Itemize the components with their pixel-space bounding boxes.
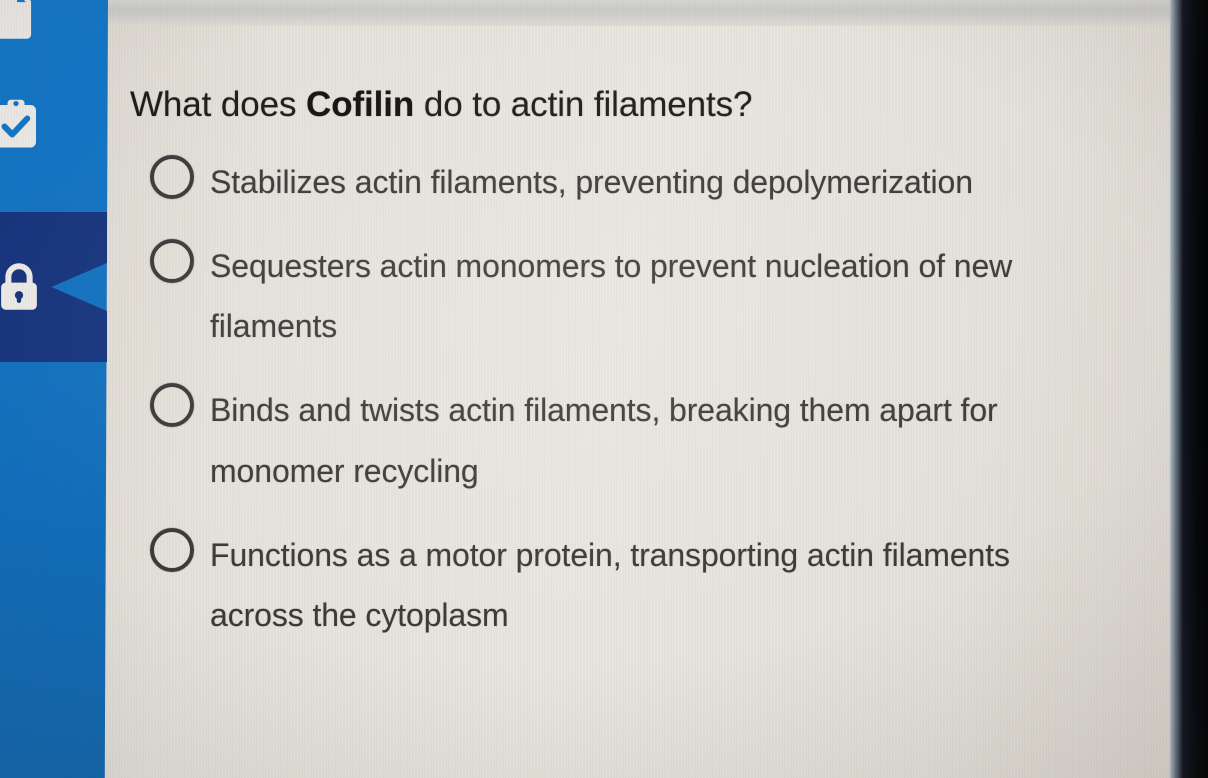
options-list: Stabilizes actin filaments, preventing d… bbox=[150, 152, 1060, 645]
option-c[interactable]: Binds and twists actin filaments, breaki… bbox=[150, 380, 1060, 500]
option-label: Sequesters actin monomers to prevent nuc… bbox=[210, 236, 1060, 356]
quiz-body: What does Cofilin do to actin filaments?… bbox=[128, 0, 1068, 778]
radio-button-unselected[interactable] bbox=[150, 239, 194, 283]
monitor-bezel-right bbox=[1170, 0, 1208, 778]
sidebar-item-locked[interactable] bbox=[0, 258, 48, 316]
lock-icon bbox=[0, 258, 48, 316]
question-text: What does Cofilin do to actin filaments? bbox=[130, 84, 1030, 125]
option-label: Stabilizes actin filaments, preventing d… bbox=[210, 152, 1060, 212]
radio-button-unselected[interactable] bbox=[150, 528, 194, 572]
question-emphasis: Cofilin bbox=[306, 85, 414, 124]
radio-button-unselected[interactable] bbox=[150, 383, 194, 427]
sidebar-item-assignments[interactable] bbox=[0, 96, 46, 154]
option-b[interactable]: Sequesters actin monomers to prevent nuc… bbox=[150, 236, 1060, 356]
radio-button-unselected[interactable] bbox=[150, 155, 194, 199]
sidebar-item-document[interactable] bbox=[0, 0, 44, 42]
option-label: Binds and twists actin filaments, breaki… bbox=[210, 380, 1060, 500]
question-suffix: do to actin filaments? bbox=[414, 85, 752, 124]
document-icon bbox=[0, 0, 44, 45]
question-prefix: What does bbox=[130, 85, 306, 124]
clipboard-check-icon bbox=[0, 95, 46, 155]
quiz-screen: What does Cofilin do to actin filaments?… bbox=[0, 0, 1208, 778]
option-d[interactable]: Functions as a motor protein, transporti… bbox=[150, 525, 1060, 645]
option-a[interactable]: Stabilizes actin filaments, preventing d… bbox=[150, 152, 1060, 212]
option-label: Functions as a motor protein, transporti… bbox=[210, 525, 1060, 645]
